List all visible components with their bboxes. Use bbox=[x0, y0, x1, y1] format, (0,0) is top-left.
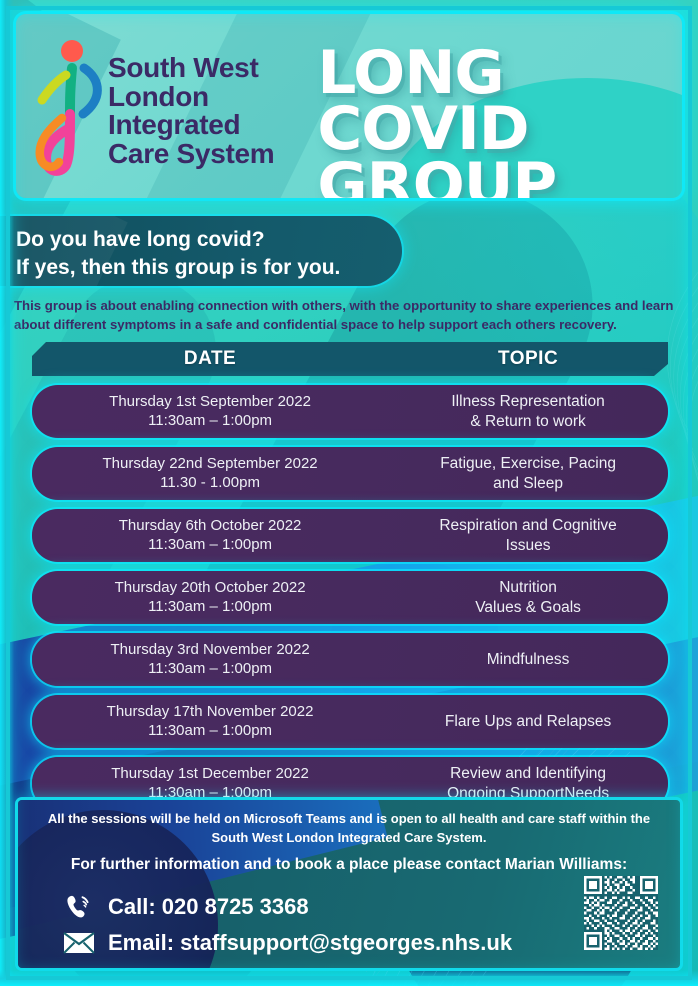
tagline-line-2: If yes, then this group is for you. bbox=[16, 254, 340, 282]
page-title: LONG COVID GROUP bbox=[317, 46, 682, 198]
cell-topic: Flare Ups and Relapses bbox=[388, 712, 668, 732]
org-line-2: London bbox=[108, 83, 274, 112]
org-line-1: South West bbox=[108, 54, 274, 83]
date-line-1: Thursday 6th October 2022 bbox=[38, 517, 382, 536]
tagline-line-1: Do you have long covid? bbox=[16, 226, 340, 254]
schedule-table: DATE TOPIC Thursday 1st September 2022 1… bbox=[32, 342, 668, 810]
cell-date: Thursday 1st September 2022 11:30am – 1:… bbox=[32, 393, 388, 431]
poster-root: South West London Integrated Care System… bbox=[0, 0, 698, 986]
bottom-edge-glow bbox=[0, 970, 698, 986]
cell-topic: Nutrition Values & Goals bbox=[388, 578, 668, 617]
column-header-topic: TOPIC bbox=[388, 348, 668, 370]
date-line-1: Thursday 1st September 2022 bbox=[38, 393, 382, 412]
date-line-1: Thursday 1st December 2022 bbox=[38, 765, 382, 784]
footer-note-line-2: South West London Integrated Care System… bbox=[34, 829, 664, 848]
date-line-1: Thursday 22nd September 2022 bbox=[38, 455, 382, 474]
left-edge-glow bbox=[0, 0, 14, 986]
date-line-1: Thursday 3rd November 2022 bbox=[38, 641, 382, 660]
topic-line-1: Review and Identifying bbox=[394, 764, 662, 784]
topic-line-1: Fatigue, Exercise, Pacing bbox=[394, 454, 662, 474]
table-row: Thursday 20th October 2022 11:30am – 1:0… bbox=[32, 571, 668, 624]
cell-topic: Illness Representation & Return to work bbox=[388, 392, 668, 431]
phone-ringing-icon bbox=[62, 892, 96, 922]
date-line-1: Thursday 20th October 2022 bbox=[38, 579, 382, 598]
schedule-header-row: DATE TOPIC bbox=[32, 342, 668, 376]
tagline-text: Do you have long covid? If yes, then thi… bbox=[16, 226, 340, 283]
intro-paragraph: This group is about enabling connection … bbox=[14, 296, 686, 334]
tagline-box: Do you have long covid? If yes, then thi… bbox=[0, 216, 402, 286]
ics-person-logo-icon bbox=[32, 38, 110, 178]
table-row: Thursday 6th October 2022 11:30am – 1:00… bbox=[32, 509, 668, 562]
topic-line-2: & Return to work bbox=[394, 412, 662, 432]
topic-line-2: Issues bbox=[394, 536, 662, 556]
date-line-2: 11:30am – 1:00pm bbox=[38, 660, 382, 679]
column-header-date: DATE bbox=[32, 348, 388, 370]
cell-date: Thursday 22nd September 2022 11.30 - 1.0… bbox=[32, 455, 388, 493]
topic-line-2: Values & Goals bbox=[394, 598, 662, 618]
date-line-2: 11:30am – 1:00pm bbox=[38, 722, 382, 741]
topic-line-1: Flare Ups and Relapses bbox=[394, 712, 662, 732]
footer-phone-text: Call: 020 8725 3368 bbox=[108, 894, 309, 920]
qr-code-icon bbox=[584, 876, 658, 950]
table-row: Thursday 1st September 2022 11:30am – 1:… bbox=[32, 385, 668, 438]
footer-email-text: Email: staffsupport@stgeorges.nhs.uk bbox=[108, 930, 512, 956]
footer-contact-prompt: For further information and to book a pl… bbox=[34, 856, 664, 874]
topic-line-1: Illness Representation bbox=[394, 392, 662, 412]
date-line-1: Thursday 17th November 2022 bbox=[38, 703, 382, 722]
cell-date: Thursday 17th November 2022 11:30am – 1:… bbox=[32, 703, 388, 741]
footer-note: All the sessions will be held on Microso… bbox=[34, 810, 664, 848]
date-line-2: 11:30am – 1:00pm bbox=[38, 412, 382, 431]
topic-line-2: and Sleep bbox=[394, 474, 662, 494]
org-line-3: Integrated bbox=[108, 111, 274, 140]
table-row: Thursday 17th November 2022 11:30am – 1:… bbox=[32, 695, 668, 748]
cell-topic: Fatigue, Exercise, Pacing and Sleep bbox=[388, 454, 668, 493]
topic-line-1: Respiration and Cognitive bbox=[394, 516, 662, 536]
date-line-2: 11:30am – 1:00pm bbox=[38, 536, 382, 555]
topic-line-1: Nutrition bbox=[394, 578, 662, 598]
date-line-2: 11:30am – 1:00pm bbox=[38, 598, 382, 617]
cell-topic: Respiration and Cognitive Issues bbox=[388, 516, 668, 555]
cell-date: Thursday 1st December 2022 11:30am – 1:0… bbox=[32, 765, 388, 803]
cell-date: Thursday 3rd November 2022 11:30am – 1:0… bbox=[32, 641, 388, 679]
org-line-4: Care System bbox=[108, 140, 274, 169]
date-line-2: 11.30 - 1.00pm bbox=[38, 474, 382, 493]
footer-email-line: Email: staffsupport@stgeorges.nhs.uk bbox=[62, 928, 512, 958]
header-panel: South West London Integrated Care System… bbox=[16, 14, 682, 198]
footer-note-line-1: All the sessions will be held on Microso… bbox=[34, 810, 664, 829]
table-row: Thursday 3rd November 2022 11:30am – 1:0… bbox=[32, 633, 668, 686]
footer-panel: All the sessions will be held on Microso… bbox=[18, 800, 680, 968]
table-row: Thursday 22nd September 2022 11.30 - 1.0… bbox=[32, 447, 668, 500]
cell-topic: Review and Identifying Ongoing SupportNe… bbox=[388, 764, 668, 803]
topic-line-1: Mindfulness bbox=[394, 650, 662, 670]
cell-date: Thursday 20th October 2022 11:30am – 1:0… bbox=[32, 579, 388, 617]
footer-phone-line: Call: 020 8725 3368 bbox=[62, 892, 309, 922]
envelope-icon bbox=[62, 928, 96, 958]
organisation-name: South West London Integrated Care System bbox=[108, 54, 274, 168]
cell-date: Thursday 6th October 2022 11:30am – 1:00… bbox=[32, 517, 388, 555]
cell-topic: Mindfulness bbox=[388, 650, 668, 670]
